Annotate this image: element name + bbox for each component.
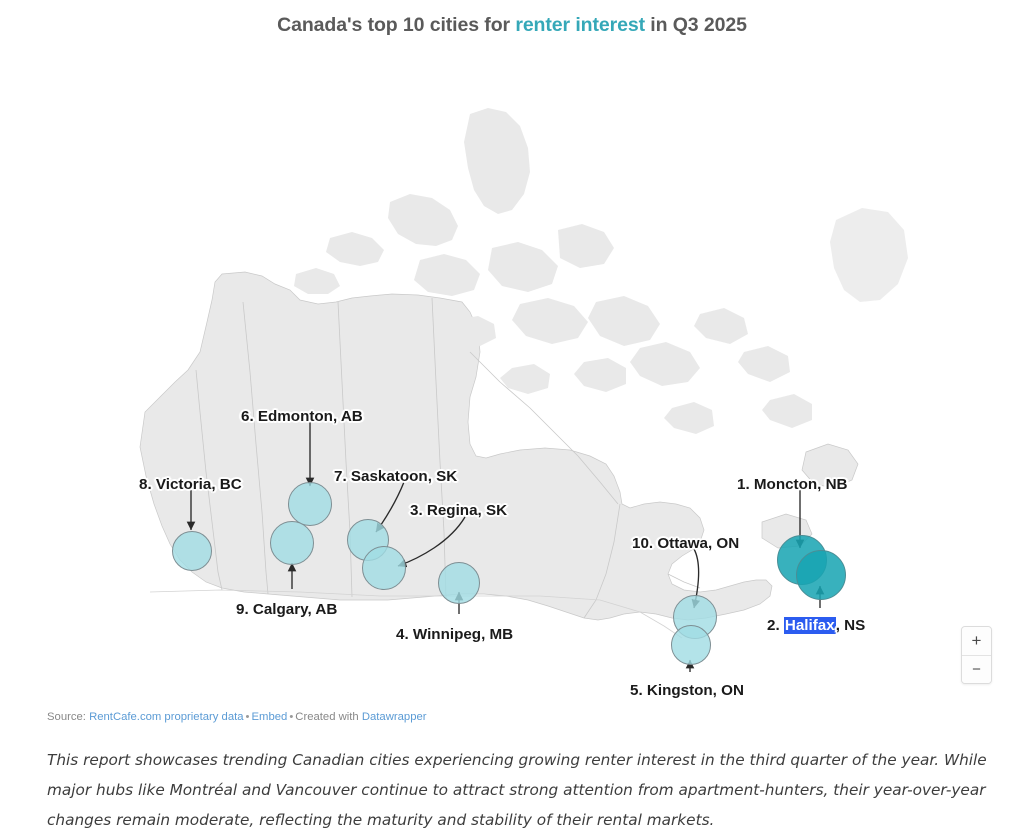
source-link[interactable]: RentCafe.com proprietary data bbox=[89, 711, 243, 723]
bubble-victoria[interactable] bbox=[172, 531, 212, 571]
title-before: Canada's top 10 cities for bbox=[277, 14, 515, 36]
label-saskatoon: 7. Saskatoon, SK bbox=[334, 468, 457, 485]
report-paragraph: This report showcases trending Canadian … bbox=[47, 745, 992, 835]
label-kingston: 5. Kingston, ON bbox=[630, 682, 744, 699]
zoom-out-button[interactable]: − bbox=[962, 655, 991, 684]
label-halifax: 2. Halifax, NS bbox=[767, 617, 865, 634]
label-edmonton: 6. Edmonton, AB bbox=[241, 408, 363, 425]
label-calgary: 9. Calgary, AB bbox=[236, 601, 337, 618]
bubble-regina[interactable] bbox=[362, 546, 406, 590]
source-prefix: Source: bbox=[47, 711, 89, 723]
label-moncton: 1. Moncton, NB bbox=[737, 476, 848, 493]
map-container[interactable]: 8. Victoria, BC 6. Edmonton, AB 7. Saska… bbox=[0, 52, 1024, 707]
footer-sep-1: • bbox=[244, 711, 252, 723]
bubble-halifax[interactable] bbox=[796, 550, 846, 600]
title-after: in Q3 2025 bbox=[645, 14, 747, 36]
label-halifax-selected-text: Halifax bbox=[784, 617, 836, 634]
title-highlight: renter interest bbox=[515, 14, 645, 36]
created-prefix: Created with bbox=[295, 711, 362, 723]
map-zoom-controls[interactable]: + − bbox=[961, 626, 992, 684]
chart-page: Canada's top 10 cities for renter intere… bbox=[0, 0, 1024, 839]
label-halifax-prefix: 2. bbox=[767, 617, 784, 634]
bubble-calgary[interactable] bbox=[270, 521, 314, 565]
bubble-edmonton[interactable] bbox=[288, 482, 332, 526]
zoom-in-button[interactable]: + bbox=[962, 627, 991, 655]
label-winnipeg: 4. Winnipeg, MB bbox=[396, 626, 513, 643]
chart-footer: Source: RentCafe.com proprietary data•Em… bbox=[47, 711, 427, 723]
label-ottawa: 10. Ottawa, ON bbox=[632, 535, 739, 552]
datawrapper-link[interactable]: Datawrapper bbox=[362, 711, 427, 723]
label-halifax-suffix: , NS bbox=[836, 617, 866, 634]
label-regina: 3. Regina, SK bbox=[410, 502, 507, 519]
bubble-kingston[interactable] bbox=[671, 625, 711, 665]
embed-link[interactable]: Embed bbox=[252, 711, 288, 723]
page-title: Canada's top 10 cities for renter intere… bbox=[0, 14, 1024, 37]
bubble-winnipeg[interactable] bbox=[438, 562, 480, 604]
label-victoria: 8. Victoria, BC bbox=[139, 476, 242, 493]
canada-map bbox=[0, 52, 1024, 707]
